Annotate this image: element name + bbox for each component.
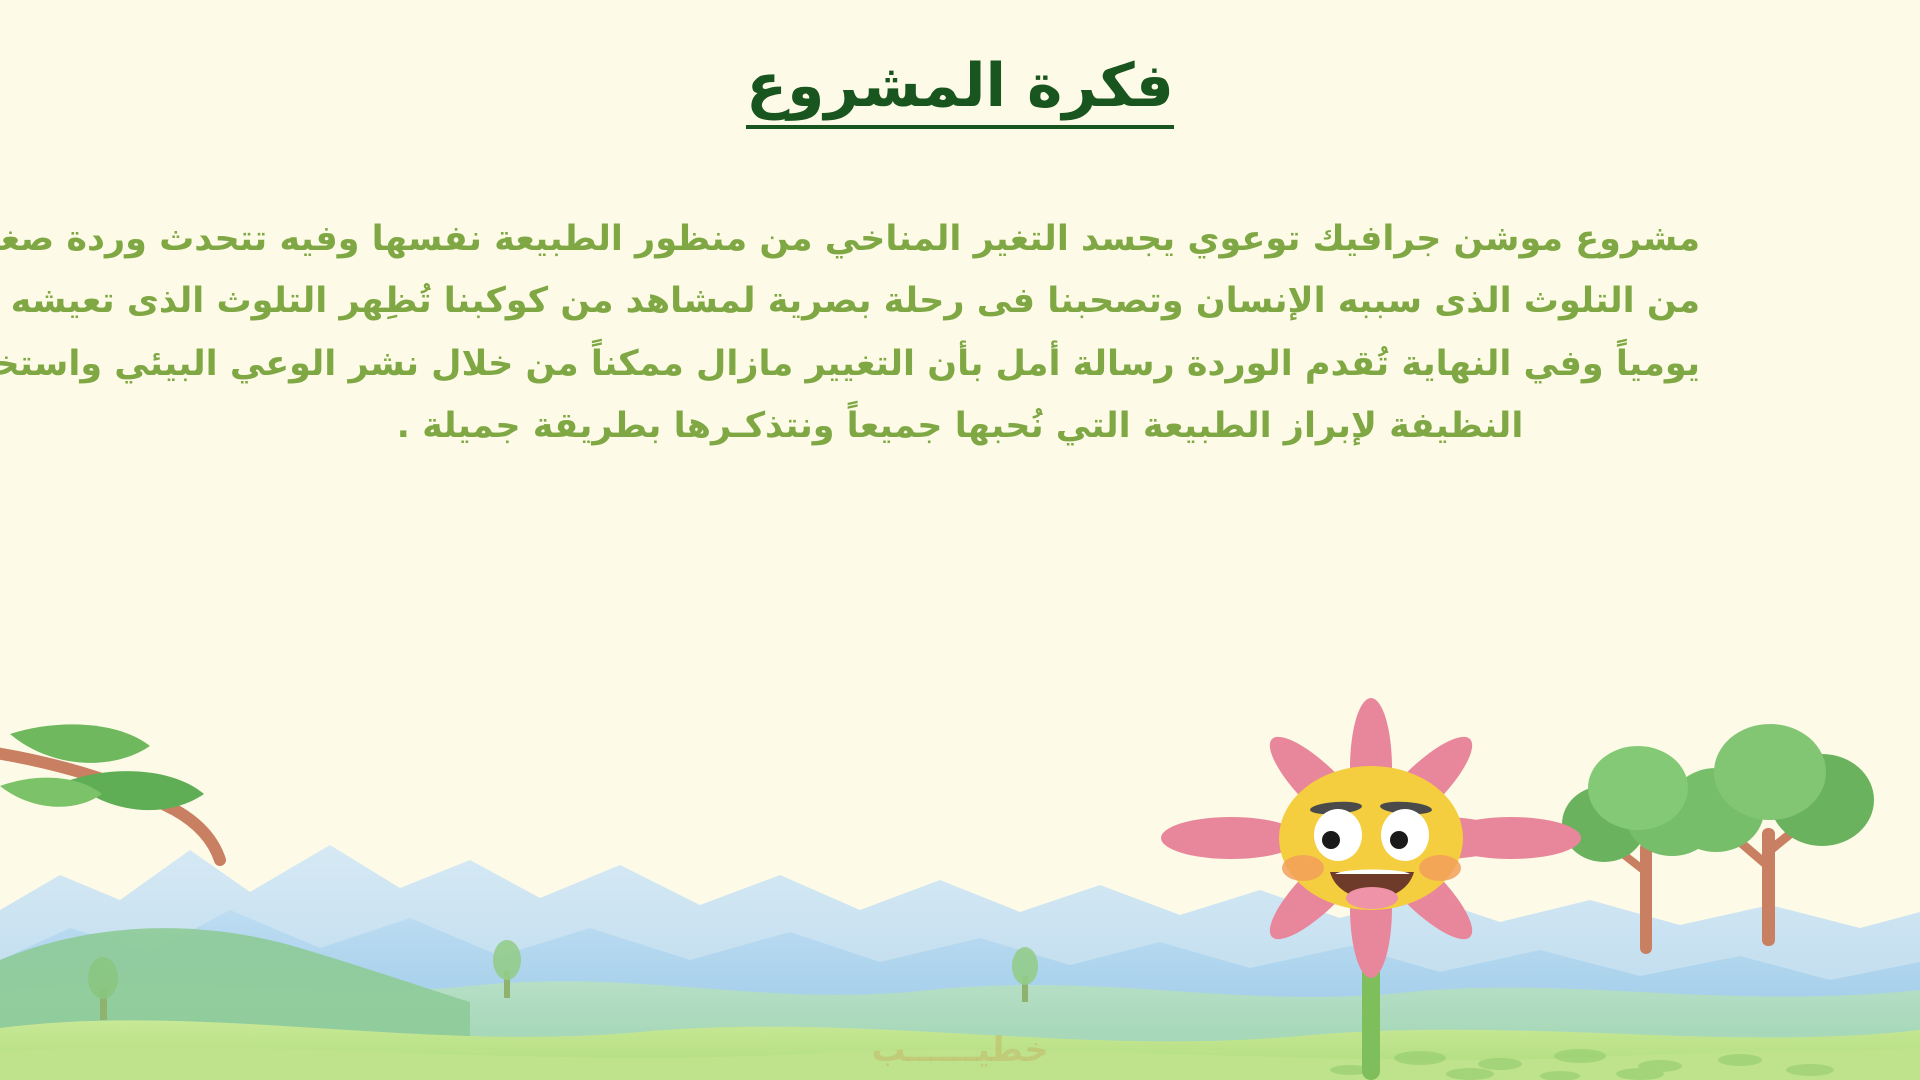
page-title: فكرة المشروع <box>746 52 1174 129</box>
body-line: مشروع موشن جرافيك توعوي يجسد التغير المن… <box>220 208 1700 270</box>
body-line: من التلوث الذى سببه الإنسان وتصحبنا فى ر… <box>220 270 1700 332</box>
body-line: النظيفة لإبراز الطبيعة التي نُحبها جميعا… <box>220 395 1700 457</box>
body-line: يومياً وفي النهاية تُقدم الوردة رسالة أم… <box>220 333 1700 395</box>
page-title-container: فكرة المشروع <box>0 52 1920 129</box>
nature-landscape-illustration <box>0 660 1920 1080</box>
leafy-branch-left <box>0 724 220 860</box>
slide-canvas: خطيــــــب فكرة المشروع مشروع موشن جرافي… <box>0 0 1920 1080</box>
watermark-text: خطيــــــب <box>871 1030 1048 1070</box>
body-paragraph: مشروع موشن جرافيك توعوي يجسد التغير المن… <box>220 208 1700 457</box>
